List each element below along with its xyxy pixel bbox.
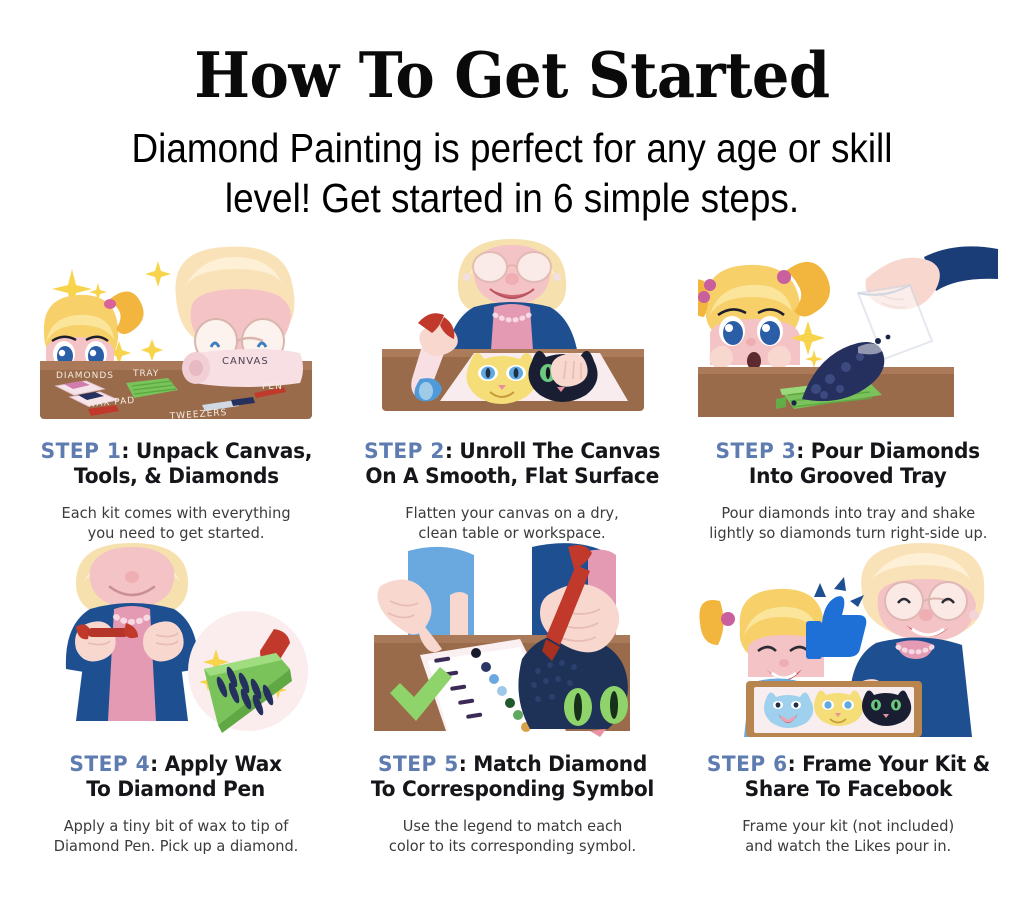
step-card-2: STEP 2: Unroll The Canvas On A Smooth, F… <box>348 237 676 543</box>
step-5-title: STEP 5: Match Diamond To Corresponding S… <box>370 752 653 802</box>
step-4-illustration <box>18 543 334 738</box>
step-5-description: Use the legend to match each color to it… <box>388 816 635 856</box>
step-3-desc-line-1: Pour diamonds into tray and shake <box>721 504 975 522</box>
step-6-description: Frame your kit (not included) and watch … <box>742 816 954 856</box>
step-1-desc-line-1: Each kit comes with everything <box>61 504 290 522</box>
step-card-3: STEP 3: Pour Diamonds Into Grooved Tray … <box>684 237 1012 543</box>
curly-hair-kid <box>175 247 294 363</box>
subtitle-line-1: Diamond Painting is perfect for any age … <box>107 123 917 173</box>
step-4-title-line-1: : Apply Wax <box>151 752 283 776</box>
infographic-page: How To Get Started Diamond Painting is p… <box>0 0 1024 922</box>
step-5-desc-line-1: Use the legend to match each <box>402 817 622 835</box>
step-5-illustration <box>354 543 670 738</box>
page-title: How To Get Started <box>0 44 1024 108</box>
step-6-illustration <box>690 543 1006 738</box>
woman-holding-pen <box>66 543 198 721</box>
canvas-roll <box>182 349 303 387</box>
step-2-title: STEP 2: Unroll The Canvas On A Smooth, F… <box>364 439 660 489</box>
step-3-desc-line-2: lightly so diamonds turn right-side up. <box>709 524 987 542</box>
step-3-title-line-1: : Pour Diamonds <box>797 439 981 463</box>
step-1-title-line-2: Tools, & Diamonds <box>74 464 279 488</box>
step-4-title-line-2: To Diamond Pen <box>87 777 266 801</box>
blonde-pigtail-kid <box>44 291 144 369</box>
step-4-desc-line-2: Diamond Pen. Pick up a diamond. <box>54 837 299 855</box>
step-2-title-line-1: : Unroll The Canvas <box>445 439 660 463</box>
step-4-title: STEP 4: Apply Wax To Diamond Pen <box>70 752 282 802</box>
step-3-illustration <box>690 237 1006 427</box>
steps-grid: DIAMONDS TRAY CANVAS WAX PAD TWEEZERS PE… <box>12 237 1012 856</box>
step-2-title-line-2: On A Smooth, Flat Surface <box>365 464 659 488</box>
step-1-desc-line-2: you need to get started. <box>88 524 265 542</box>
inset-zoom-circle <box>188 611 308 733</box>
step-5-title-line-1: : Match Diamond <box>458 752 646 776</box>
step-4-desc-line-1: Apply a tiny bit of wax to tip of <box>64 817 289 835</box>
step-2-description: Flatten your canvas on a dry, clean tabl… <box>405 503 618 543</box>
step-2-illustration <box>354 237 670 427</box>
woman-with-glasses <box>458 239 566 311</box>
header: How To Get Started Diamond Painting is p… <box>0 0 1024 223</box>
subtitle-line-2: level! Get started in 6 simple steps. <box>107 173 917 223</box>
hand-left-with-pen <box>418 313 458 356</box>
framed-painting <box>746 681 922 737</box>
step-1-illustration: DIAMONDS TRAY CANVAS WAX PAD TWEEZERS PE… <box>18 237 334 427</box>
step-card-4: STEP 4: Apply Wax To Diamond Pen Apply a… <box>12 543 340 856</box>
step-4-label: STEP 4 <box>70 752 151 776</box>
surprised-girl <box>698 262 830 370</box>
step-6-title: STEP 6: Frame Your Kit & Share To Facebo… <box>706 752 989 802</box>
art-label-pen: PEN <box>262 382 283 392</box>
step-card-1: DIAMONDS TRAY CANVAS WAX PAD TWEEZERS PE… <box>12 237 340 543</box>
step-6-title-line-1: : Frame Your Kit & <box>787 752 989 776</box>
step-1-title: STEP 1: Unpack Canvas, Tools, & Diamonds <box>40 439 312 489</box>
step-6-title-line-2: Share To Facebook <box>744 777 952 801</box>
step-5-label: STEP 5 <box>377 752 458 776</box>
hand-right <box>551 353 588 387</box>
step-3-title-line-2: Into Grooved Tray <box>749 464 947 488</box>
step-card-6: STEP 6: Frame Your Kit & Share To Facebo… <box>684 543 1012 856</box>
art-label-tray: TRAY <box>132 369 159 379</box>
art-label-canvas: CANVAS <box>222 356 269 367</box>
art-label-diamonds: DIAMONDS <box>56 371 114 381</box>
step-6-desc-line-2: and watch the Likes pour in. <box>745 837 951 855</box>
step-1-title-line-1: : Unpack Canvas, <box>121 439 312 463</box>
step-2-desc-line-2: clean table or workspace. <box>418 524 605 542</box>
step-card-5: STEP 5: Match Diamond To Corresponding S… <box>348 543 676 856</box>
step-6-label: STEP 6 <box>706 752 787 776</box>
step-5-title-line-2: To Corresponding Symbol <box>370 777 653 801</box>
page-subtitle: Diamond Painting is perfect for any age … <box>107 123 917 223</box>
step-3-label: STEP 3 <box>716 439 797 463</box>
step-2-desc-line-1: Flatten your canvas on a dry, <box>405 504 618 522</box>
step-4-description: Apply a tiny bit of wax to tip of Diamon… <box>54 816 299 856</box>
step-1-description: Each kit comes with everything you need … <box>61 503 290 543</box>
step-2-label: STEP 2 <box>364 439 445 463</box>
step-3-description: Pour diamonds into tray and shake lightl… <box>709 503 987 543</box>
step-5-desc-line-2: color to its corresponding symbol. <box>388 837 635 855</box>
step-6-desc-line-1: Frame your kit (not included) <box>742 817 954 835</box>
step-1-label: STEP 1 <box>40 439 121 463</box>
step-3-title: STEP 3: Pour Diamonds Into Grooved Tray <box>716 439 980 489</box>
